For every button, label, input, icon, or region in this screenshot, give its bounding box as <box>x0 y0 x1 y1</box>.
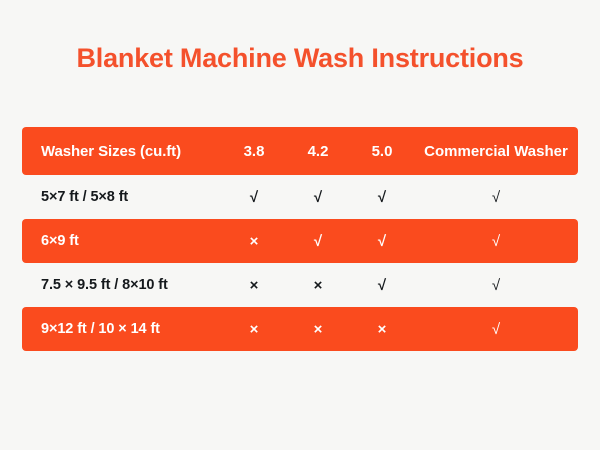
column-header-washer-sizes: Washer Sizes (cu.ft) <box>22 143 222 160</box>
wash-compatibility-table: Washer Sizes (cu.ft) 3.8 4.2 5.0 Commerc… <box>22 127 578 351</box>
row-label-size: 9×12 ft / 10 × 14 ft <box>22 321 222 337</box>
cell-mark-4-2: √ <box>286 234 350 249</box>
row-label-size: 6×9 ft <box>22 233 222 249</box>
cell-mark-commercial: √ <box>414 233 578 250</box>
table-row: 5×7 ft / 5×8 ft √ √ √ √ <box>22 175 578 219</box>
cell-mark-3-8: × <box>222 278 286 293</box>
column-header-commercial-washer: Commercial Washer <box>414 143 578 160</box>
row-label-size: 5×7 ft / 5×8 ft <box>22 189 222 205</box>
cell-mark-5-0: √ <box>350 234 414 249</box>
row-label-size: 7.5 × 9.5 ft / 8×10 ft <box>22 277 222 293</box>
table-row: 9×12 ft / 10 × 14 ft × × × √ <box>22 307 578 351</box>
cell-mark-commercial: √ <box>414 321 578 338</box>
table-row: 7.5 × 9.5 ft / 8×10 ft × × √ √ <box>22 263 578 307</box>
wash-instructions-page: Blanket Machine Wash Instructions Washer… <box>0 0 600 450</box>
table-header-row: Washer Sizes (cu.ft) 3.8 4.2 5.0 Commerc… <box>22 127 578 175</box>
column-header-4-2: 4.2 <box>286 143 350 160</box>
cell-mark-commercial: √ <box>414 189 578 206</box>
cell-mark-5-0: √ <box>350 278 414 293</box>
cell-mark-3-8: √ <box>222 190 286 205</box>
cell-mark-3-8: × <box>222 322 286 337</box>
cell-mark-commercial: √ <box>414 277 578 294</box>
cell-mark-3-8: × <box>222 234 286 249</box>
cell-mark-4-2: × <box>286 322 350 337</box>
column-header-5-0: 5.0 <box>350 143 414 160</box>
cell-mark-4-2: √ <box>286 190 350 205</box>
column-header-3-8: 3.8 <box>222 143 286 160</box>
cell-mark-5-0: √ <box>350 190 414 205</box>
cell-mark-5-0: × <box>350 322 414 337</box>
page-title: Blanket Machine Wash Instructions <box>0 42 600 74</box>
cell-mark-4-2: × <box>286 278 350 293</box>
table-row: 6×9 ft × √ √ √ <box>22 219 578 263</box>
